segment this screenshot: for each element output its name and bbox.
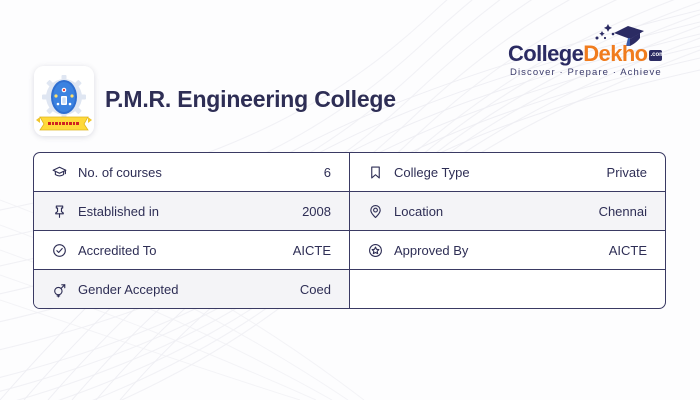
table-row: Location Chennai: [350, 192, 665, 231]
row-label: Approved By: [394, 243, 609, 258]
map-pin-icon: [364, 202, 386, 220]
row-value: Private: [607, 165, 647, 180]
row-label: Gender Accepted: [78, 282, 300, 297]
table-row: Approved By AICTE: [350, 231, 665, 270]
brand-wordmark: CollegeDekho.com: [508, 43, 662, 65]
pushpin-icon: [48, 202, 70, 220]
table-row: College Type Private: [350, 153, 665, 192]
row-value: Coed: [300, 282, 331, 297]
bookmark-icon: [364, 163, 386, 181]
gender-icon: [48, 281, 70, 299]
row-value: Chennai: [599, 204, 647, 219]
brand-dotcom-badge: .com: [649, 50, 662, 61]
graduation-cap-icon: [48, 163, 70, 181]
check-circle-icon: [48, 241, 70, 259]
info-card-right: College Type Private Location Chennai: [349, 152, 666, 309]
row-value: AICTE: [293, 243, 331, 258]
table-row-filler: [350, 270, 665, 309]
page-header: P.M.R. Engineering College CollegeDekho.…: [0, 0, 700, 150]
award-star-icon: [364, 241, 386, 259]
table-row: Accredited To AICTE: [34, 231, 349, 270]
college-info-table: No. of courses 6 Established in 2008: [33, 152, 666, 309]
page-title: P.M.R. Engineering College: [105, 86, 396, 113]
brand-name-dekho: Dekho: [583, 41, 647, 66]
row-value: AICTE: [609, 243, 647, 258]
brand-tagline: Discover · Prepare · Achieve: [510, 67, 662, 78]
row-label: Location: [394, 204, 599, 219]
table-row: No. of courses 6: [34, 153, 349, 192]
row-value: 6: [324, 165, 331, 180]
collegedekho-logo[interactable]: CollegeDekho.com Discover · Prepare · Ac…: [508, 22, 674, 78]
college-crest-logo: [34, 66, 94, 136]
table-row: Gender Accepted Coed: [34, 270, 349, 309]
page-root: P.M.R. Engineering College CollegeDekho.…: [0, 0, 700, 400]
row-label: No. of courses: [78, 165, 324, 180]
row-label: College Type: [394, 165, 607, 180]
table-row: Established in 2008: [34, 192, 349, 231]
row-value: 2008: [302, 204, 331, 219]
row-label: Accredited To: [78, 243, 293, 258]
info-card-left: No. of courses 6 Established in 2008: [33, 152, 349, 309]
row-label: Established in: [78, 204, 302, 219]
brand-name-college: College: [508, 41, 583, 66]
